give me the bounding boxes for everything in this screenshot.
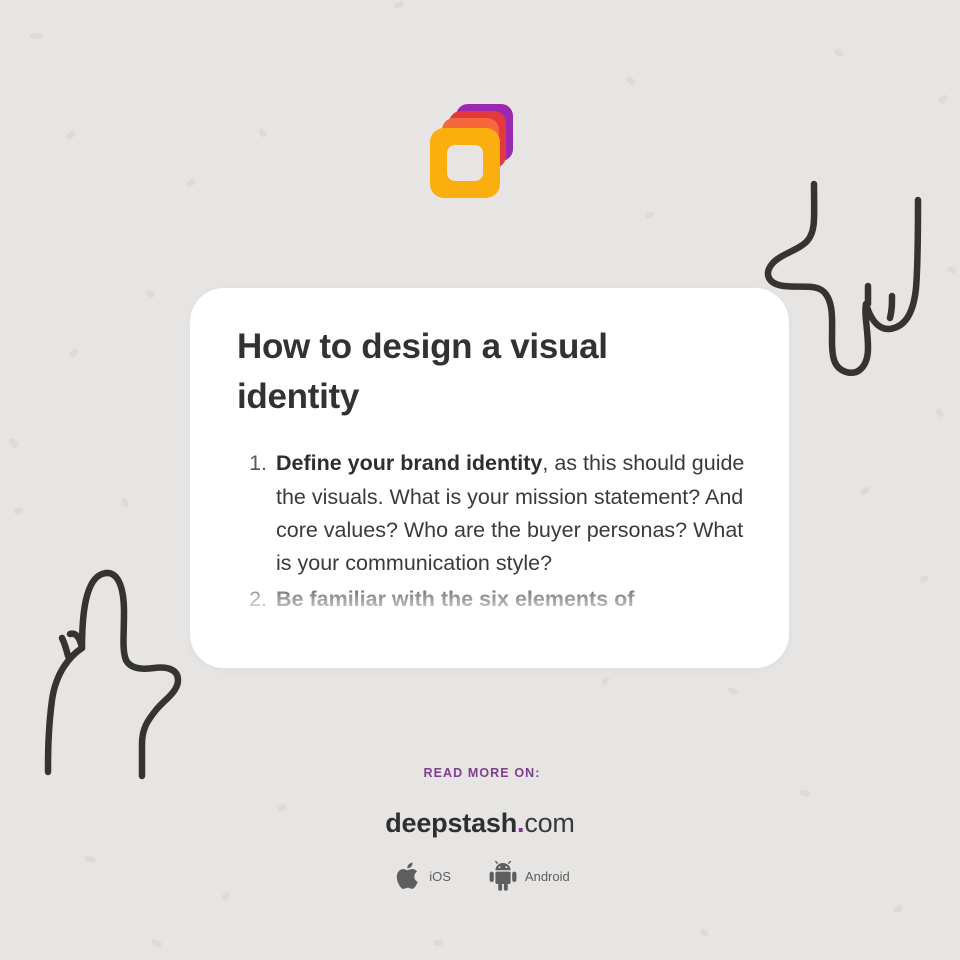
apple-icon	[396, 861, 421, 891]
list-item-lead: Be familiar with the six elements of	[276, 587, 634, 611]
brand-wordmark[interactable]: deepstash.com	[0, 808, 960, 839]
read-more-label: READ MORE ON:	[0, 766, 960, 780]
list-item-number: 1.	[237, 447, 276, 480]
list-item: 1. Define your brand identity, as this s…	[237, 447, 745, 580]
list-item-number: 2.	[237, 583, 276, 616]
list-item-lead: Define your brand identity	[276, 451, 542, 475]
card-content: How to design a visual identity 1. Defin…	[190, 288, 789, 616]
brand-name: deepstash	[385, 808, 517, 838]
poster-canvas: How to design a visual identity 1. Defin…	[0, 0, 960, 960]
idea-card: How to design a visual identity 1. Defin…	[190, 288, 789, 668]
brand-tld: com	[524, 808, 574, 838]
store-badges: iOS And	[0, 861, 960, 891]
logo-center-cutout	[447, 145, 483, 181]
store-badge-ios[interactable]: iOS	[396, 861, 451, 891]
hand-pointing-up-icon	[22, 560, 207, 785]
page-title: How to design a visual identity	[237, 322, 657, 421]
android-icon	[489, 861, 517, 891]
list-item-text: Be familiar with the six elements of	[276, 583, 745, 616]
store-badge-android[interactable]: Android	[489, 861, 570, 891]
deepstash-logo	[430, 104, 516, 198]
list-item-text: Define your brand identity, as this shou…	[276, 447, 745, 580]
list-item: 2. Be familiar with the six elements of	[237, 583, 745, 616]
store-label-ios: iOS	[429, 869, 451, 884]
store-label-android: Android	[525, 869, 570, 884]
footer: READ MORE ON: deepstash.com iOS	[0, 766, 960, 891]
idea-list: 1. Define your brand identity, as this s…	[237, 447, 745, 616]
